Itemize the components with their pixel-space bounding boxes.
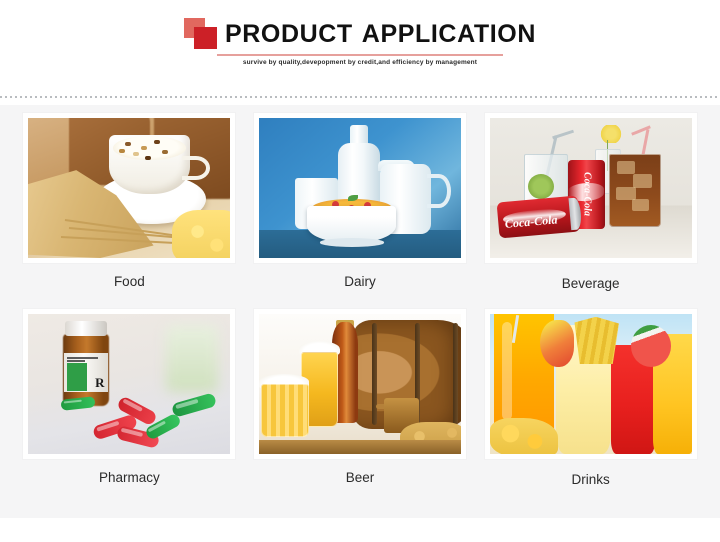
image-frame: R — [23, 309, 235, 459]
title-underline — [217, 54, 503, 56]
cola-brand-text-lying: Coca-Cola — [504, 212, 558, 232]
product-card-dairy[interactable]: Dairy — [245, 113, 476, 309]
beer-barrel-glasses-photo — [259, 314, 461, 454]
logo-square-dark — [194, 27, 217, 49]
product-card-label: Beverage — [562, 277, 620, 291]
milk-bottle-jug-photo — [259, 118, 461, 258]
image-frame — [23, 113, 235, 263]
header-divider — [0, 96, 720, 98]
product-card-label: Drinks — [572, 473, 610, 487]
cola-brand-text-upright: Coca-Cola — [581, 172, 592, 216]
product-card-beer[interactable]: Beer — [245, 309, 476, 505]
content-panel: Food — [0, 105, 720, 518]
page-subtitle: survive by quality,devepopment by credit… — [243, 59, 477, 66]
image-frame — [254, 113, 466, 263]
cereal-bowl-wheat-photo — [28, 118, 230, 258]
product-card-label: Beer — [346, 471, 375, 485]
product-card-food[interactable]: Food — [14, 113, 245, 309]
rx-symbol-text: R — [95, 375, 104, 391]
product-card-label: Dairy — [344, 275, 376, 289]
product-card-pharmacy[interactable]: R Pharmacy — [14, 309, 245, 505]
cola-cans-glasses-photo: Coca-Cola Coca-Cola — [490, 118, 692, 258]
pill-bottle-capsules-photo: R — [28, 314, 230, 454]
product-card-label: Pharmacy — [99, 471, 160, 485]
image-frame — [485, 309, 697, 459]
image-frame — [254, 309, 466, 459]
product-grid: Food — [14, 113, 706, 505]
image-frame: Coca-Cola Coca-Cola — [485, 113, 697, 263]
brand-row: PRODUCTAPPLICATION — [184, 18, 536, 50]
page-title-word-1: PRODUCT — [225, 20, 353, 48]
page-header: PRODUCTAPPLICATION survive by quality,de… — [0, 0, 720, 97]
page-title-word-2: APPLICATION — [362, 20, 536, 48]
product-card-beverage[interactable]: Coca-Cola Coca-Cola Beverage — [475, 113, 706, 309]
brand-block: PRODUCTAPPLICATION survive by quality,de… — [184, 18, 536, 66]
product-application-page: PRODUCTAPPLICATION survive by quality,de… — [0, 0, 720, 542]
page-title: PRODUCTAPPLICATION — [225, 22, 536, 47]
overlapping-squares-logo-icon — [184, 18, 218, 50]
tropical-juice-glasses-photo — [490, 314, 692, 454]
product-card-drinks[interactable]: Drinks — [475, 309, 706, 505]
product-card-label: Food — [114, 275, 145, 289]
